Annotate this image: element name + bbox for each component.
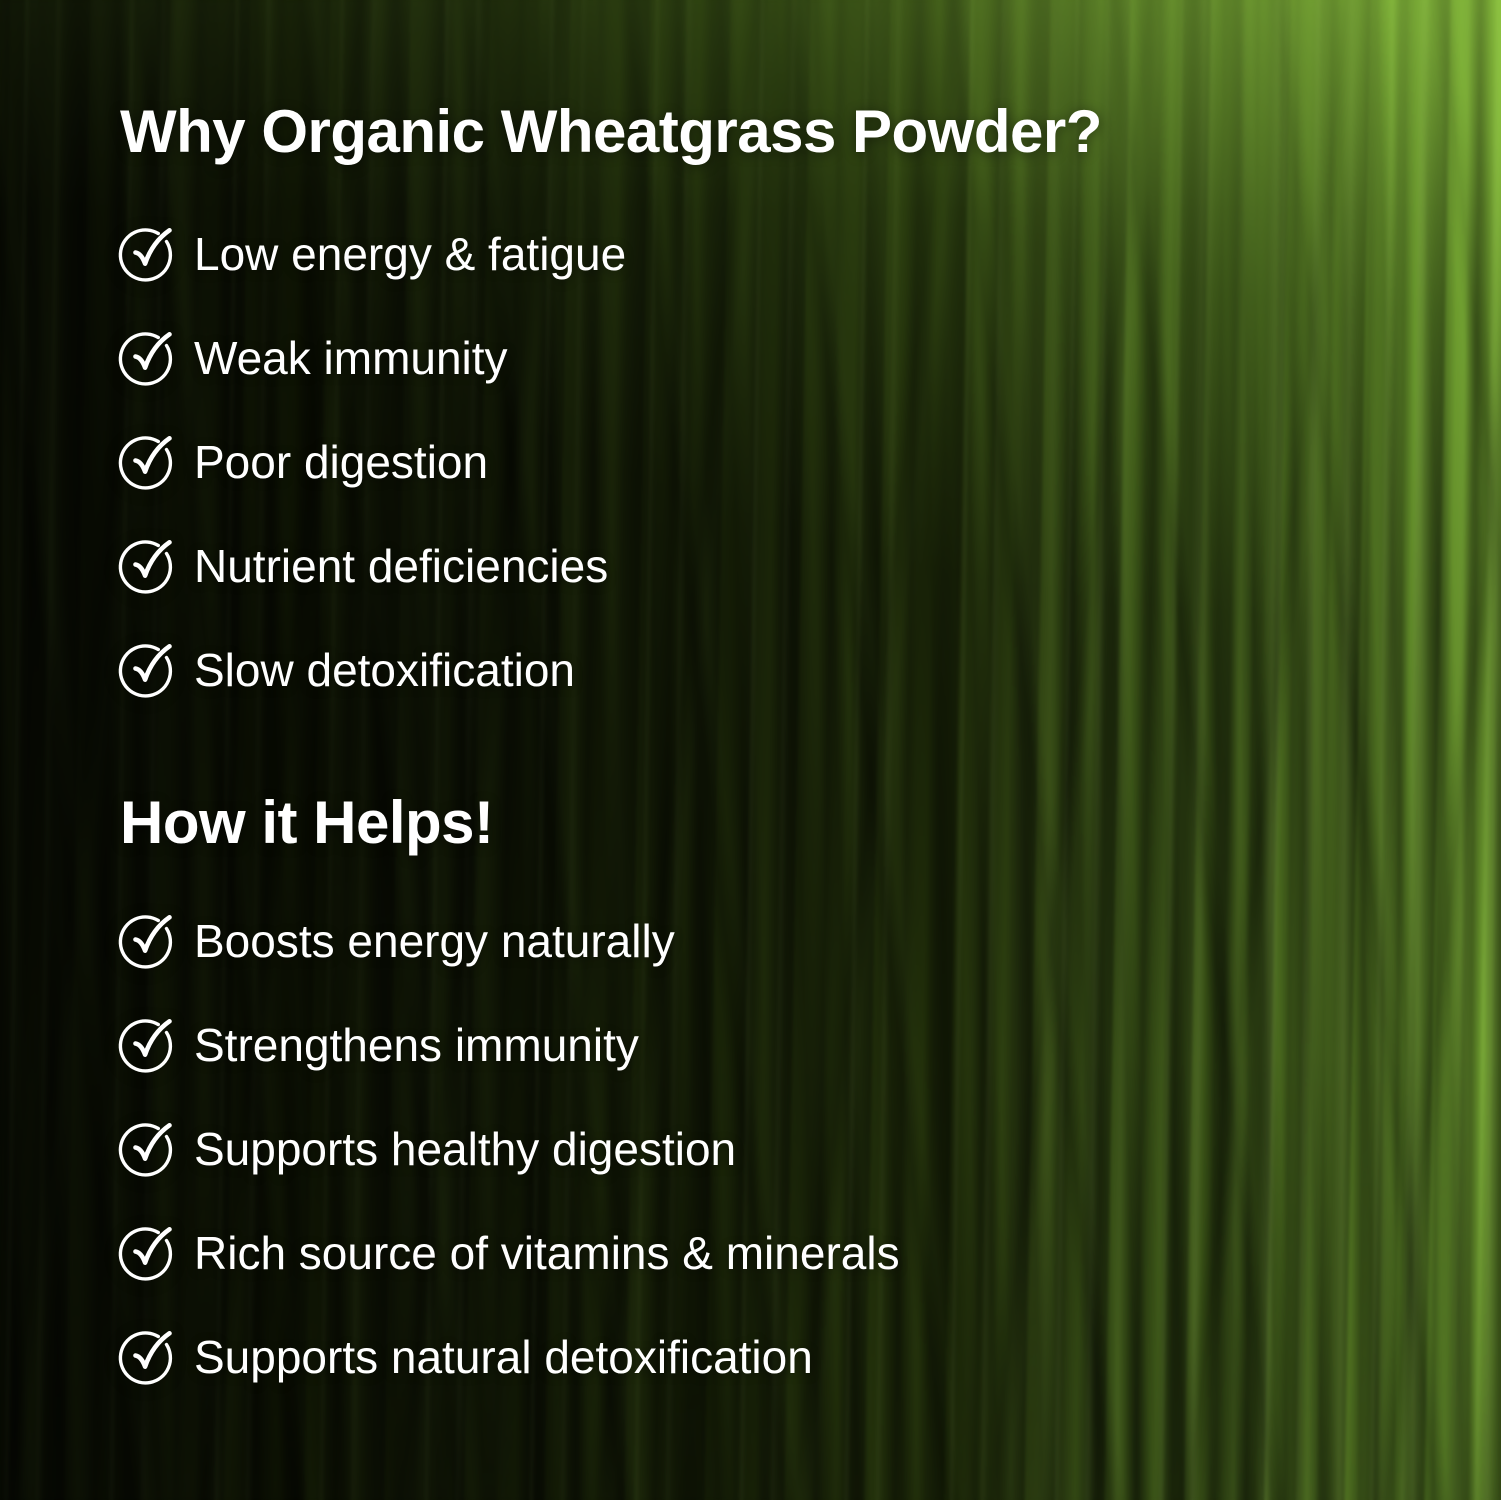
check-circle-icon (118, 537, 176, 595)
list-item-label: Weak immunity (194, 331, 508, 385)
check-circle-icon (118, 1224, 176, 1282)
list-item: Slow detoxification (118, 644, 626, 696)
list-item-label: Boosts energy naturally (194, 914, 675, 968)
section-1-list: Low energy & fatigue Weak immunity (118, 228, 626, 696)
list-item-label: Strengthens immunity (194, 1018, 639, 1072)
check-circle-icon (118, 433, 176, 491)
list-item: Low energy & fatigue (118, 228, 626, 280)
list-item: Strengthens immunity (118, 1019, 900, 1071)
list-item-label: Supports natural detoxification (194, 1330, 813, 1384)
list-item-label: Poor digestion (194, 435, 488, 489)
check-circle-icon (118, 1016, 176, 1074)
list-item: Weak immunity (118, 332, 626, 384)
check-circle-icon (118, 329, 176, 387)
list-item: Nutrient deficiencies (118, 540, 626, 592)
list-item: Supports healthy digestion (118, 1123, 900, 1175)
section-2-heading: How it Helps! (120, 788, 494, 857)
check-circle-icon (118, 225, 176, 283)
check-circle-icon (118, 912, 176, 970)
section-1-heading: Why Organic Wheatgrass Powder? (120, 97, 1102, 166)
wheatgrass-benefits-poster: Why Organic Wheatgrass Powder? Low energ… (0, 0, 1501, 1500)
list-item: Supports natural detoxification (118, 1331, 900, 1383)
list-item-label: Rich source of vitamins & minerals (194, 1226, 900, 1280)
list-item: Rich source of vitamins & minerals (118, 1227, 900, 1279)
section-2-list: Boosts energy naturally Strengthens immu… (118, 915, 900, 1383)
check-circle-icon (118, 641, 176, 699)
check-circle-icon (118, 1328, 176, 1386)
list-item-label: Nutrient deficiencies (194, 539, 608, 593)
list-item-label: Supports healthy digestion (194, 1122, 736, 1176)
list-item: Boosts energy naturally (118, 915, 900, 967)
list-item: Poor digestion (118, 436, 626, 488)
check-circle-icon (118, 1120, 176, 1178)
list-item-label: Low energy & fatigue (194, 227, 626, 281)
list-item-label: Slow detoxification (194, 643, 575, 697)
